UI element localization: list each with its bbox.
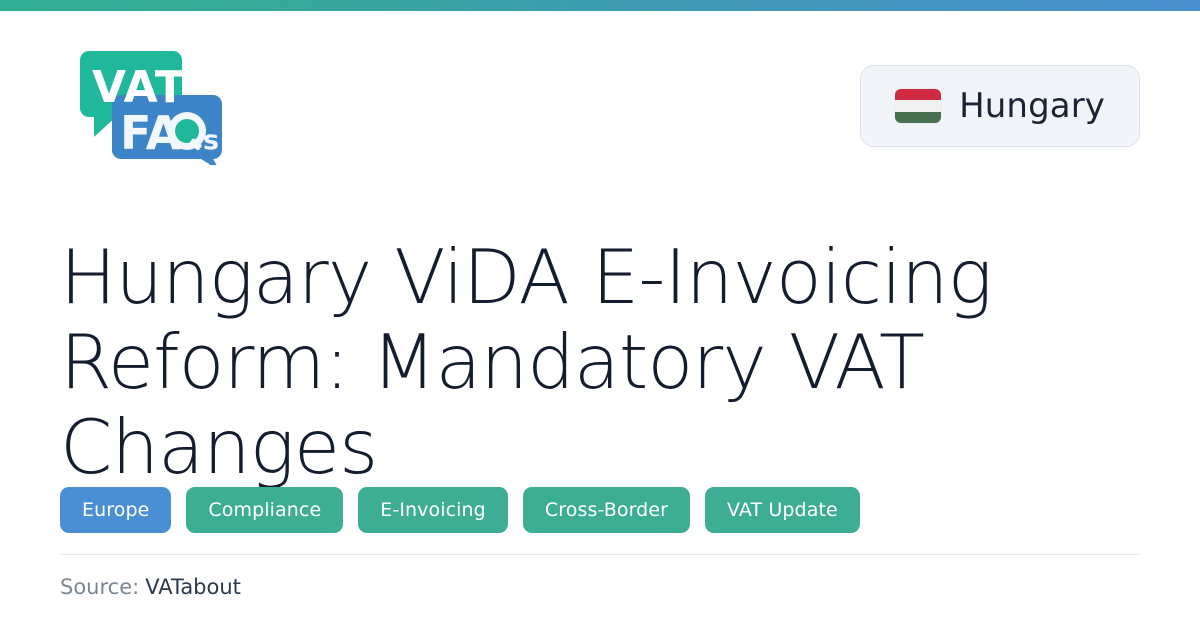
header: VAT FA s Hungary (60, 39, 1140, 159)
tag-list: Europe Compliance E-Invoicing Cross-Bord… (60, 487, 860, 533)
tag-pill[interactable]: Cross-Border (523, 487, 690, 533)
content-card: VAT FA s Hungary Hungary ViDA (0, 11, 1200, 630)
footer-divider (60, 554, 1140, 555)
country-badge[interactable]: Hungary (860, 65, 1140, 147)
tag-pill[interactable]: E-Invoicing (358, 487, 508, 533)
vatfaqs-logo[interactable]: VAT FA s (70, 45, 238, 165)
source-value[interactable]: VATabout (145, 575, 241, 599)
tag-pill[interactable]: Compliance (186, 487, 343, 533)
page-title: Hungary ViDA E-Invoicing Reform: Mandato… (60, 235, 1150, 490)
logo-s-text: s (203, 125, 219, 156)
tag-pill[interactable]: Europe (60, 487, 171, 533)
hungary-flag-icon (895, 89, 941, 123)
source-label: Source: (60, 575, 139, 599)
source-line: Source:VATabout (60, 573, 241, 601)
country-name: Hungary (959, 86, 1105, 126)
top-gradient-bar (0, 0, 1200, 11)
tag-pill[interactable]: VAT Update (705, 487, 860, 533)
